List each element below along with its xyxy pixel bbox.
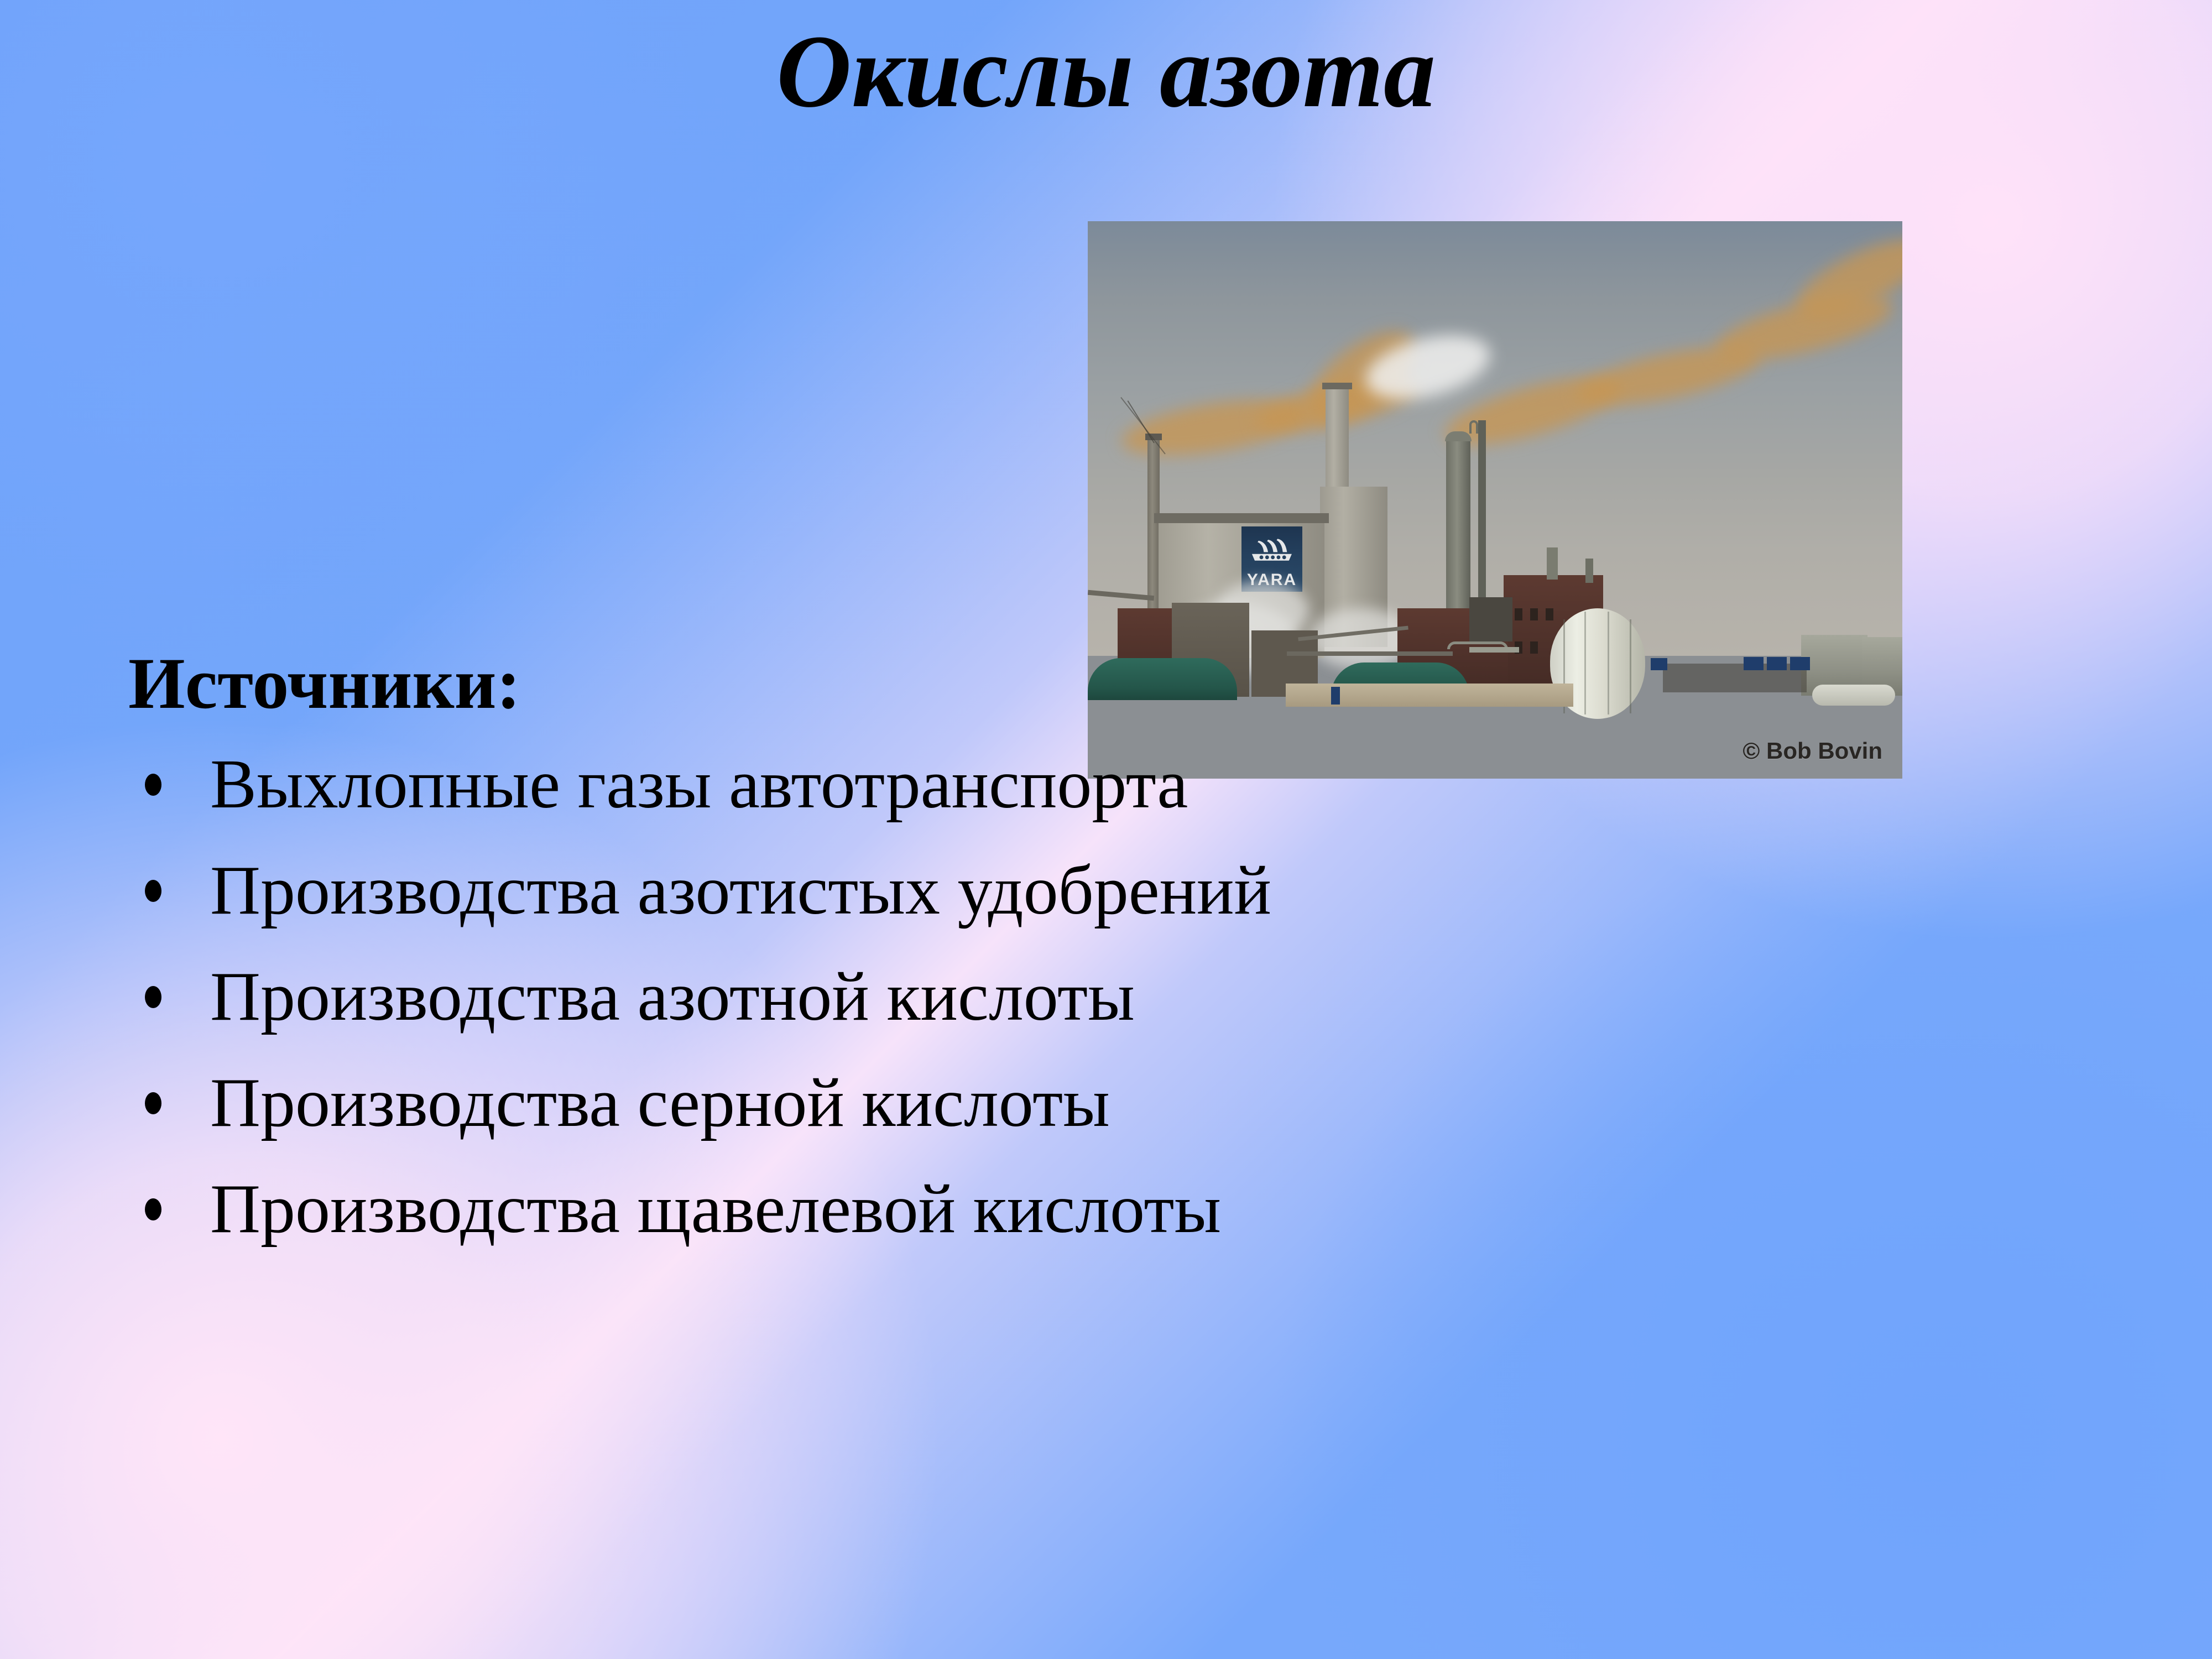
list-item: Производства азотистых удобрений (128, 856, 1787, 926)
sources-list: Выхлопные газы автотранспорта Производст… (128, 750, 1787, 1244)
smokestack-main-cap (1322, 383, 1352, 389)
list-item: Производства щавелевой кислоты (128, 1175, 1787, 1244)
list-item-label: Производства азотистых удобрений (210, 852, 1271, 929)
column-vent-pipe (1469, 420, 1478, 434)
sources-heading: Источники: (128, 647, 1787, 720)
bullet-dot-icon (145, 1198, 161, 1220)
slide-title: Окислы азота (0, 17, 2212, 126)
window-2 (1530, 608, 1538, 620)
bullet-dot-icon (145, 1092, 161, 1114)
window-3 (1546, 608, 1553, 620)
list-item-label: Производства серной кислоты (210, 1065, 1110, 1141)
slide-body: Источники: Выхлопные газы автотранспорта… (128, 647, 1787, 1281)
bullet-dot-icon (145, 774, 161, 796)
small-pipe-vertical (1585, 559, 1593, 583)
column-top-cap (1445, 431, 1472, 441)
blue-container-4 (1790, 657, 1810, 670)
presentation-slide: Окислы азота (0, 0, 2212, 1659)
small-chimney (1547, 547, 1558, 580)
window-1 (1515, 608, 1522, 620)
list-item-label: Производства щавелевой кислоты (210, 1171, 1221, 1248)
list-item: Выхлопные газы автотранспорта (128, 750, 1787, 820)
bullet-dot-icon (145, 880, 161, 902)
bullet-dot-icon (145, 986, 161, 1008)
list-item: Производства азотной кислоты (128, 962, 1787, 1032)
list-item-label: Выхлопные газы автотранспорта (210, 746, 1188, 823)
list-item-label: Производства азотной кислоты (210, 958, 1135, 1035)
list-item: Производства серной кислоты (128, 1068, 1787, 1138)
silo-top-rim (1154, 513, 1329, 523)
yara-ship-icon (1248, 535, 1296, 570)
horizontal-tank-right (1812, 685, 1895, 706)
dark-structure (1469, 597, 1512, 641)
